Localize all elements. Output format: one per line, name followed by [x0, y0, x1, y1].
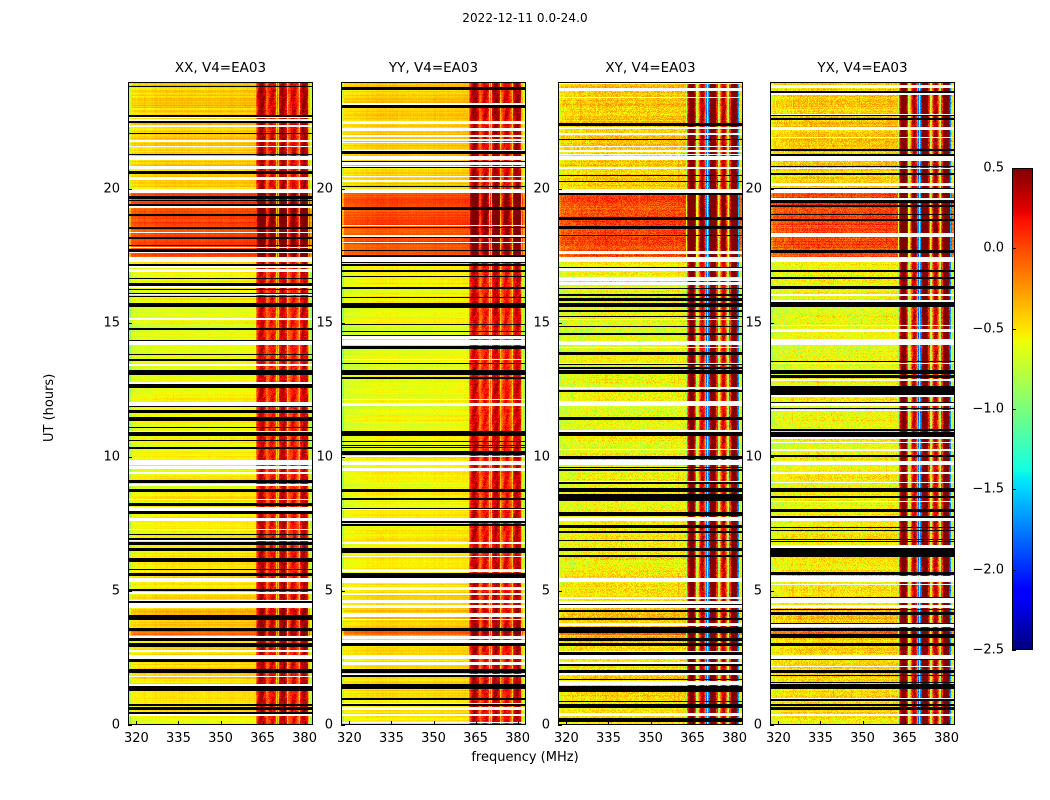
ytick-label: 20: [316, 182, 333, 197]
xtick-mark: [651, 721, 652, 725]
xtick-mark: [735, 721, 736, 725]
ytick-label: 20: [533, 182, 550, 197]
xtick-label: 335: [808, 731, 833, 746]
colorbar-tick-mark: [1012, 409, 1016, 410]
ytick-label: 0: [754, 718, 762, 733]
xtick-mark: [566, 721, 567, 725]
colorbar-tick-mark: [1012, 650, 1016, 651]
ytick-label: 5: [754, 584, 762, 599]
spectrum-image-xx: [128, 82, 313, 725]
y-axis-label: UT (hours): [42, 373, 57, 441]
xtick-label: 320: [124, 731, 149, 746]
xtick-mark: [778, 721, 779, 725]
xtick-label: 380: [722, 731, 747, 746]
ytick-label: 10: [533, 450, 550, 465]
ytick-mark: [558, 323, 562, 324]
xtick-mark: [476, 721, 477, 725]
panel-title-yx: YX, V4=EA03: [770, 60, 955, 76]
ytick-mark: [558, 591, 562, 592]
colorbar-tick-mark: [1012, 329, 1016, 330]
ytick-mark: [128, 189, 132, 190]
xtick-label: 380: [505, 731, 530, 746]
panel-title-yy: YY, V4=EA03: [341, 60, 526, 76]
ytick-mark: [770, 457, 774, 458]
xtick-label: 335: [379, 731, 404, 746]
ytick-mark: [128, 457, 132, 458]
spectrum-image-xy: [558, 82, 743, 725]
ytick-label: 0: [325, 718, 333, 733]
colorbar-tick-label: −2.5: [972, 643, 1004, 658]
xtick-label: 365: [463, 731, 488, 746]
panel-title-xx: XX, V4=EA03: [128, 60, 313, 76]
figure-root: 2022-12-11 0.0-24.0 XX, V4=EA03320335350…: [0, 0, 1050, 800]
colorbar-tick-label: −2.0: [972, 562, 1004, 577]
colorbar-tick-mark: [1012, 570, 1016, 571]
ytick-mark: [341, 457, 345, 458]
xtick-mark: [305, 721, 306, 725]
colorbar-tick-label: 0.5: [983, 161, 1004, 176]
spectrum-image-yy: [341, 82, 526, 725]
ytick-label: 5: [325, 584, 333, 599]
panel-yx[interactable]: YX, V4=EA0332033535036538005101520: [770, 82, 955, 725]
panel-xy[interactable]: XY, V4=EA0332033535036538005101520: [558, 82, 743, 725]
xtick-label: 350: [638, 731, 663, 746]
xtick-mark: [905, 721, 906, 725]
ytick-label: 15: [103, 316, 120, 331]
ytick-label: 10: [103, 450, 120, 465]
colorbar-tick-label: −0.5: [972, 321, 1004, 336]
ytick-mark: [558, 725, 562, 726]
ytick-label: 15: [316, 316, 333, 331]
colorbar-tick-mark: [1012, 248, 1016, 249]
xtick-label: 320: [337, 731, 362, 746]
colorbar-tick-mark: [1012, 489, 1016, 490]
xtick-mark: [947, 721, 948, 725]
ytick-label: 20: [103, 182, 120, 197]
panel-title-xy: XY, V4=EA03: [558, 60, 743, 76]
xtick-label: 350: [421, 731, 446, 746]
ytick-mark: [341, 189, 345, 190]
colorbar[interactable]: −2.5−2.0−1.5−1.0−0.50.00.5: [1012, 168, 1033, 650]
ytick-mark: [770, 189, 774, 190]
xtick-mark: [349, 721, 350, 725]
ytick-label: 5: [112, 584, 120, 599]
xtick-label: 350: [850, 731, 875, 746]
xtick-label: 350: [208, 731, 233, 746]
ytick-mark: [341, 323, 345, 324]
xtick-mark: [693, 721, 694, 725]
xtick-mark: [178, 721, 179, 725]
panel-yy[interactable]: YY, V4=EA0332033535036538005101520: [341, 82, 526, 725]
ytick-mark: [128, 591, 132, 592]
xtick-label: 380: [292, 731, 317, 746]
ytick-mark: [128, 725, 132, 726]
xtick-mark: [608, 721, 609, 725]
colorbar-tick-label: −1.0: [972, 402, 1004, 417]
ytick-mark: [341, 725, 345, 726]
ytick-label: 20: [745, 182, 762, 197]
xtick-mark: [434, 721, 435, 725]
colorbar-tick-label: 0.0: [983, 241, 1004, 256]
ytick-mark: [558, 189, 562, 190]
ytick-label: 5: [542, 584, 550, 599]
colorbar-tick-mark: [1012, 168, 1016, 169]
ytick-label: 0: [112, 718, 120, 733]
xtick-label: 320: [766, 731, 791, 746]
xtick-mark: [863, 721, 864, 725]
xtick-label: 335: [166, 731, 191, 746]
ytick-mark: [770, 725, 774, 726]
ytick-mark: [558, 457, 562, 458]
xtick-label: 320: [554, 731, 579, 746]
xtick-mark: [136, 721, 137, 725]
ytick-label: 15: [533, 316, 550, 331]
x-axis-label: frequency (MHz): [0, 750, 1050, 765]
xtick-label: 380: [934, 731, 959, 746]
figure-suptitle: 2022-12-11 0.0-24.0: [0, 11, 1050, 25]
ytick-label: 0: [542, 718, 550, 733]
colorbar-tick-label: −1.5: [972, 482, 1004, 497]
ytick-label: 15: [745, 316, 762, 331]
spectrum-image-yx: [770, 82, 955, 725]
xtick-mark: [221, 721, 222, 725]
xtick-label: 365: [680, 731, 705, 746]
ytick-mark: [341, 591, 345, 592]
xtick-mark: [518, 721, 519, 725]
ytick-label: 10: [745, 450, 762, 465]
xtick-mark: [820, 721, 821, 725]
xtick-label: 365: [250, 731, 275, 746]
ytick-mark: [770, 591, 774, 592]
xtick-mark: [263, 721, 264, 725]
panel-xx[interactable]: XX, V4=EA0332033535036538005101520: [128, 82, 313, 725]
xtick-label: 335: [596, 731, 621, 746]
ytick-mark: [770, 323, 774, 324]
ytick-label: 10: [316, 450, 333, 465]
ytick-mark: [128, 323, 132, 324]
xtick-label: 365: [892, 731, 917, 746]
xtick-mark: [391, 721, 392, 725]
